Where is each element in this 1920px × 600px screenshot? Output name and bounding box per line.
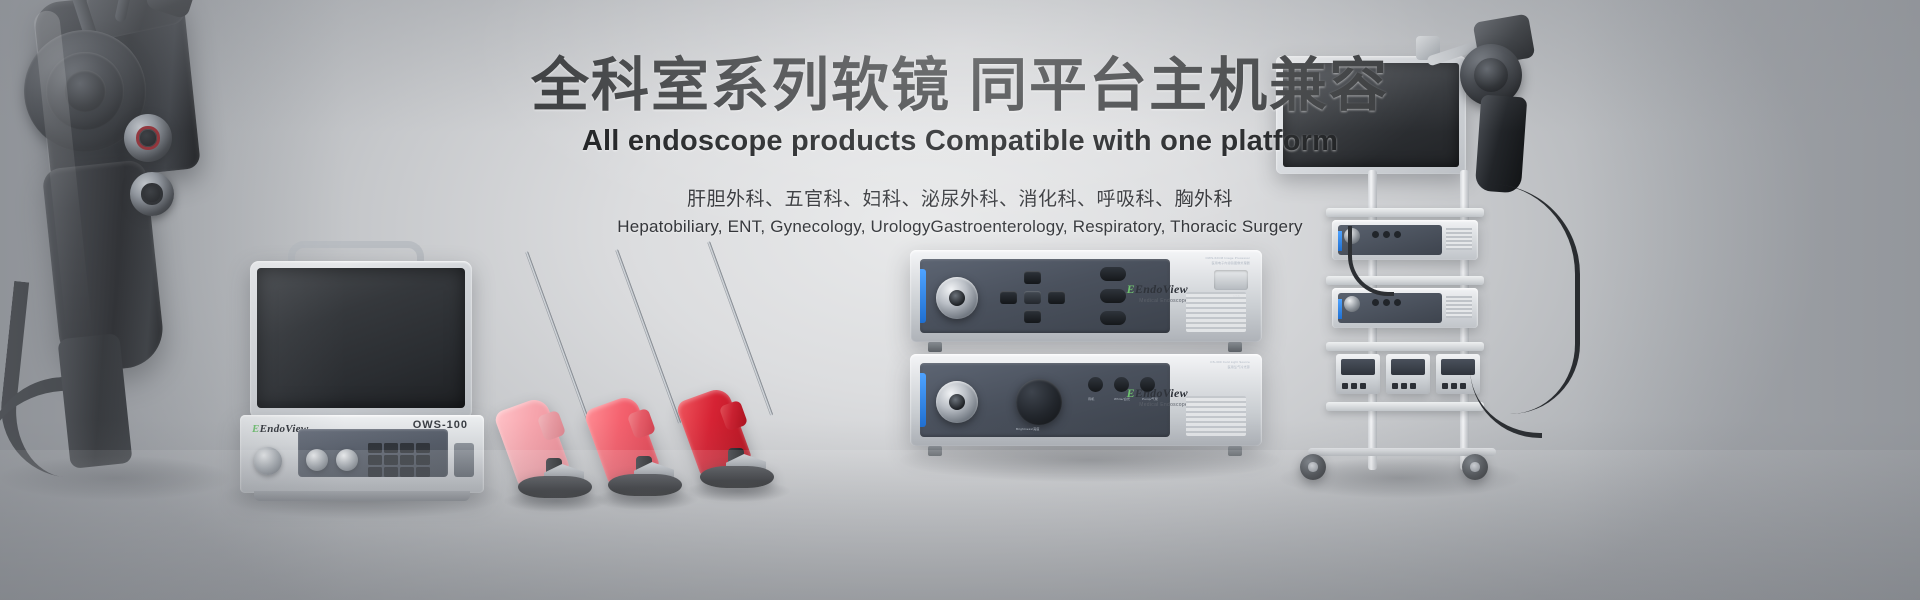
control-unit-foot [1228,342,1242,352]
brightness-dial [1016,379,1062,425]
product-monitor-workstation: EEndoView OWS-100 [228,245,496,495]
endoscope-tube-lower [1470,318,1542,438]
workstation-side-tab [454,443,474,477]
module-buttons [1342,383,1366,389]
awb-button [1100,267,1126,281]
keypad-key [400,443,414,453]
light-source-brand: EEndoView Medical Endoscope [1127,384,1188,408]
keypad-key [400,455,414,465]
model-label-en: OS-300 Cold Light Source [1210,360,1250,365]
workstation-display-screen [257,268,465,408]
dpad-menu-button [1024,291,1041,304]
instrument-stand-base [608,474,682,496]
dpad-right-button [1048,291,1065,304]
module-buttons [1392,383,1416,389]
workstation-keypad [368,443,430,477]
back-button [1100,311,1126,325]
page-subtitle: All endoscope products Compatible with o… [0,125,1920,158]
standby-button-label: 待机 [1088,397,1094,402]
ventilation-grille [1186,292,1246,332]
keypad-key [384,467,398,477]
banner-text-block: 全科室系列软镜 同平台主机兼容 All endoscope products C… [0,54,1920,237]
enter-button [1100,289,1126,303]
module-display [1391,359,1425,375]
module-button [1410,383,1416,389]
workstation-foot [254,491,470,501]
workstation-knob-3 [336,449,358,471]
light-source-scope-port [936,381,978,423]
image-processor-brand: EEndoView Medical Endoscope [1127,280,1188,304]
module-button [1342,383,1348,389]
keypad-key [368,467,382,477]
departments-english: Hepatobiliary, ENT, Gynecology, UrologyG… [0,217,1920,237]
dpad-up-button [1024,271,1041,284]
page-title: 全科室系列软镜 同平台主机兼容 [0,54,1920,119]
ventilation-grille [1186,396,1246,436]
module-button [1392,383,1398,389]
module-button [1360,383,1366,389]
image-processor-dpad [994,271,1072,323]
image-processor-model-label: OWS-62CM Image Processor 医用电子内窥镜图像处理器 [1206,256,1250,265]
workstation-display-bezel [250,261,472,419]
departments-chinese: 肝胆外科、五官科、妇科、泌尿外科、消化科、呼吸科、胸外科 [0,184,1920,211]
keypad-key [416,443,430,453]
module-button [1401,383,1407,389]
product-laparoscopic-instrument-3 [682,240,802,480]
cart-wheel-left [1300,454,1326,480]
dpad-down-button [1024,310,1041,323]
keypad-key [368,443,382,453]
cart-device-2-buttons [1372,299,1401,306]
cart-device-2-dial [1344,296,1360,312]
accent-stripe [1338,299,1342,319]
accent-stripe [920,373,926,427]
device-button [1372,299,1379,306]
instrument-stand-base [518,476,592,498]
instrument-stand-base [700,466,774,488]
workstation-main-knob [254,447,282,475]
brand-subtitle: Medical Endoscope [1127,298,1188,304]
control-unit-foot [928,342,942,352]
banner-root: 全科室系列软镜 同平台主机兼容 All endoscope products C… [0,0,1920,600]
brightness-dial-label: Brightness/亮度 [1016,427,1040,432]
usb-port [1214,270,1248,290]
cart-module-2 [1386,354,1430,394]
keypad-key [400,467,414,477]
control-unit-foot [928,446,942,456]
brand-logo-text: EEndoView [1127,282,1188,296]
accent-stripe [920,269,926,323]
keypad-key [384,443,398,453]
brand-subtitle: Medical Endoscope [1127,402,1188,408]
instrument-shaft [688,240,800,408]
image-processor-scope-port [936,277,978,319]
module-button [1351,383,1357,389]
model-label-en: OWS-62CM Image Processor [1206,256,1250,261]
standby-button [1088,377,1103,392]
keypad-key [384,455,398,465]
workstation-knob-2 [306,449,328,471]
product-control-units: OWS-62CM Image Processor 医用电子内窥镜图像处理器 US… [910,250,1270,450]
control-unit-foot [1228,446,1242,456]
cart-wheel-right [1462,454,1488,480]
keypad-key [416,455,430,465]
keypad-key [416,467,430,477]
control-unit-image-processor: OWS-62CM Image Processor 医用电子内窥镜图像处理器 US… [910,250,1262,342]
dpad-left-button [1000,291,1017,304]
keypad-key [368,455,382,465]
brand-logo-text: EEndoView [1127,386,1188,400]
device-button [1394,299,1401,306]
module-display [1341,359,1375,375]
model-label-cn: 医用氙气冷光源 [1210,365,1250,370]
light-source-model-label: OS-300 Cold Light Source 医用氙气冷光源 [1210,360,1250,369]
workstation-base-unit: EEndoView OWS-100 [240,415,484,493]
device-button [1383,299,1390,306]
model-label-cn: 医用电子内窥镜图像处理器 [1206,261,1250,266]
control-unit-light-source: Brightness/亮度 待机 White/白光 Pump/气泵 OS-300… [910,354,1262,446]
cart-module-1 [1336,354,1380,394]
